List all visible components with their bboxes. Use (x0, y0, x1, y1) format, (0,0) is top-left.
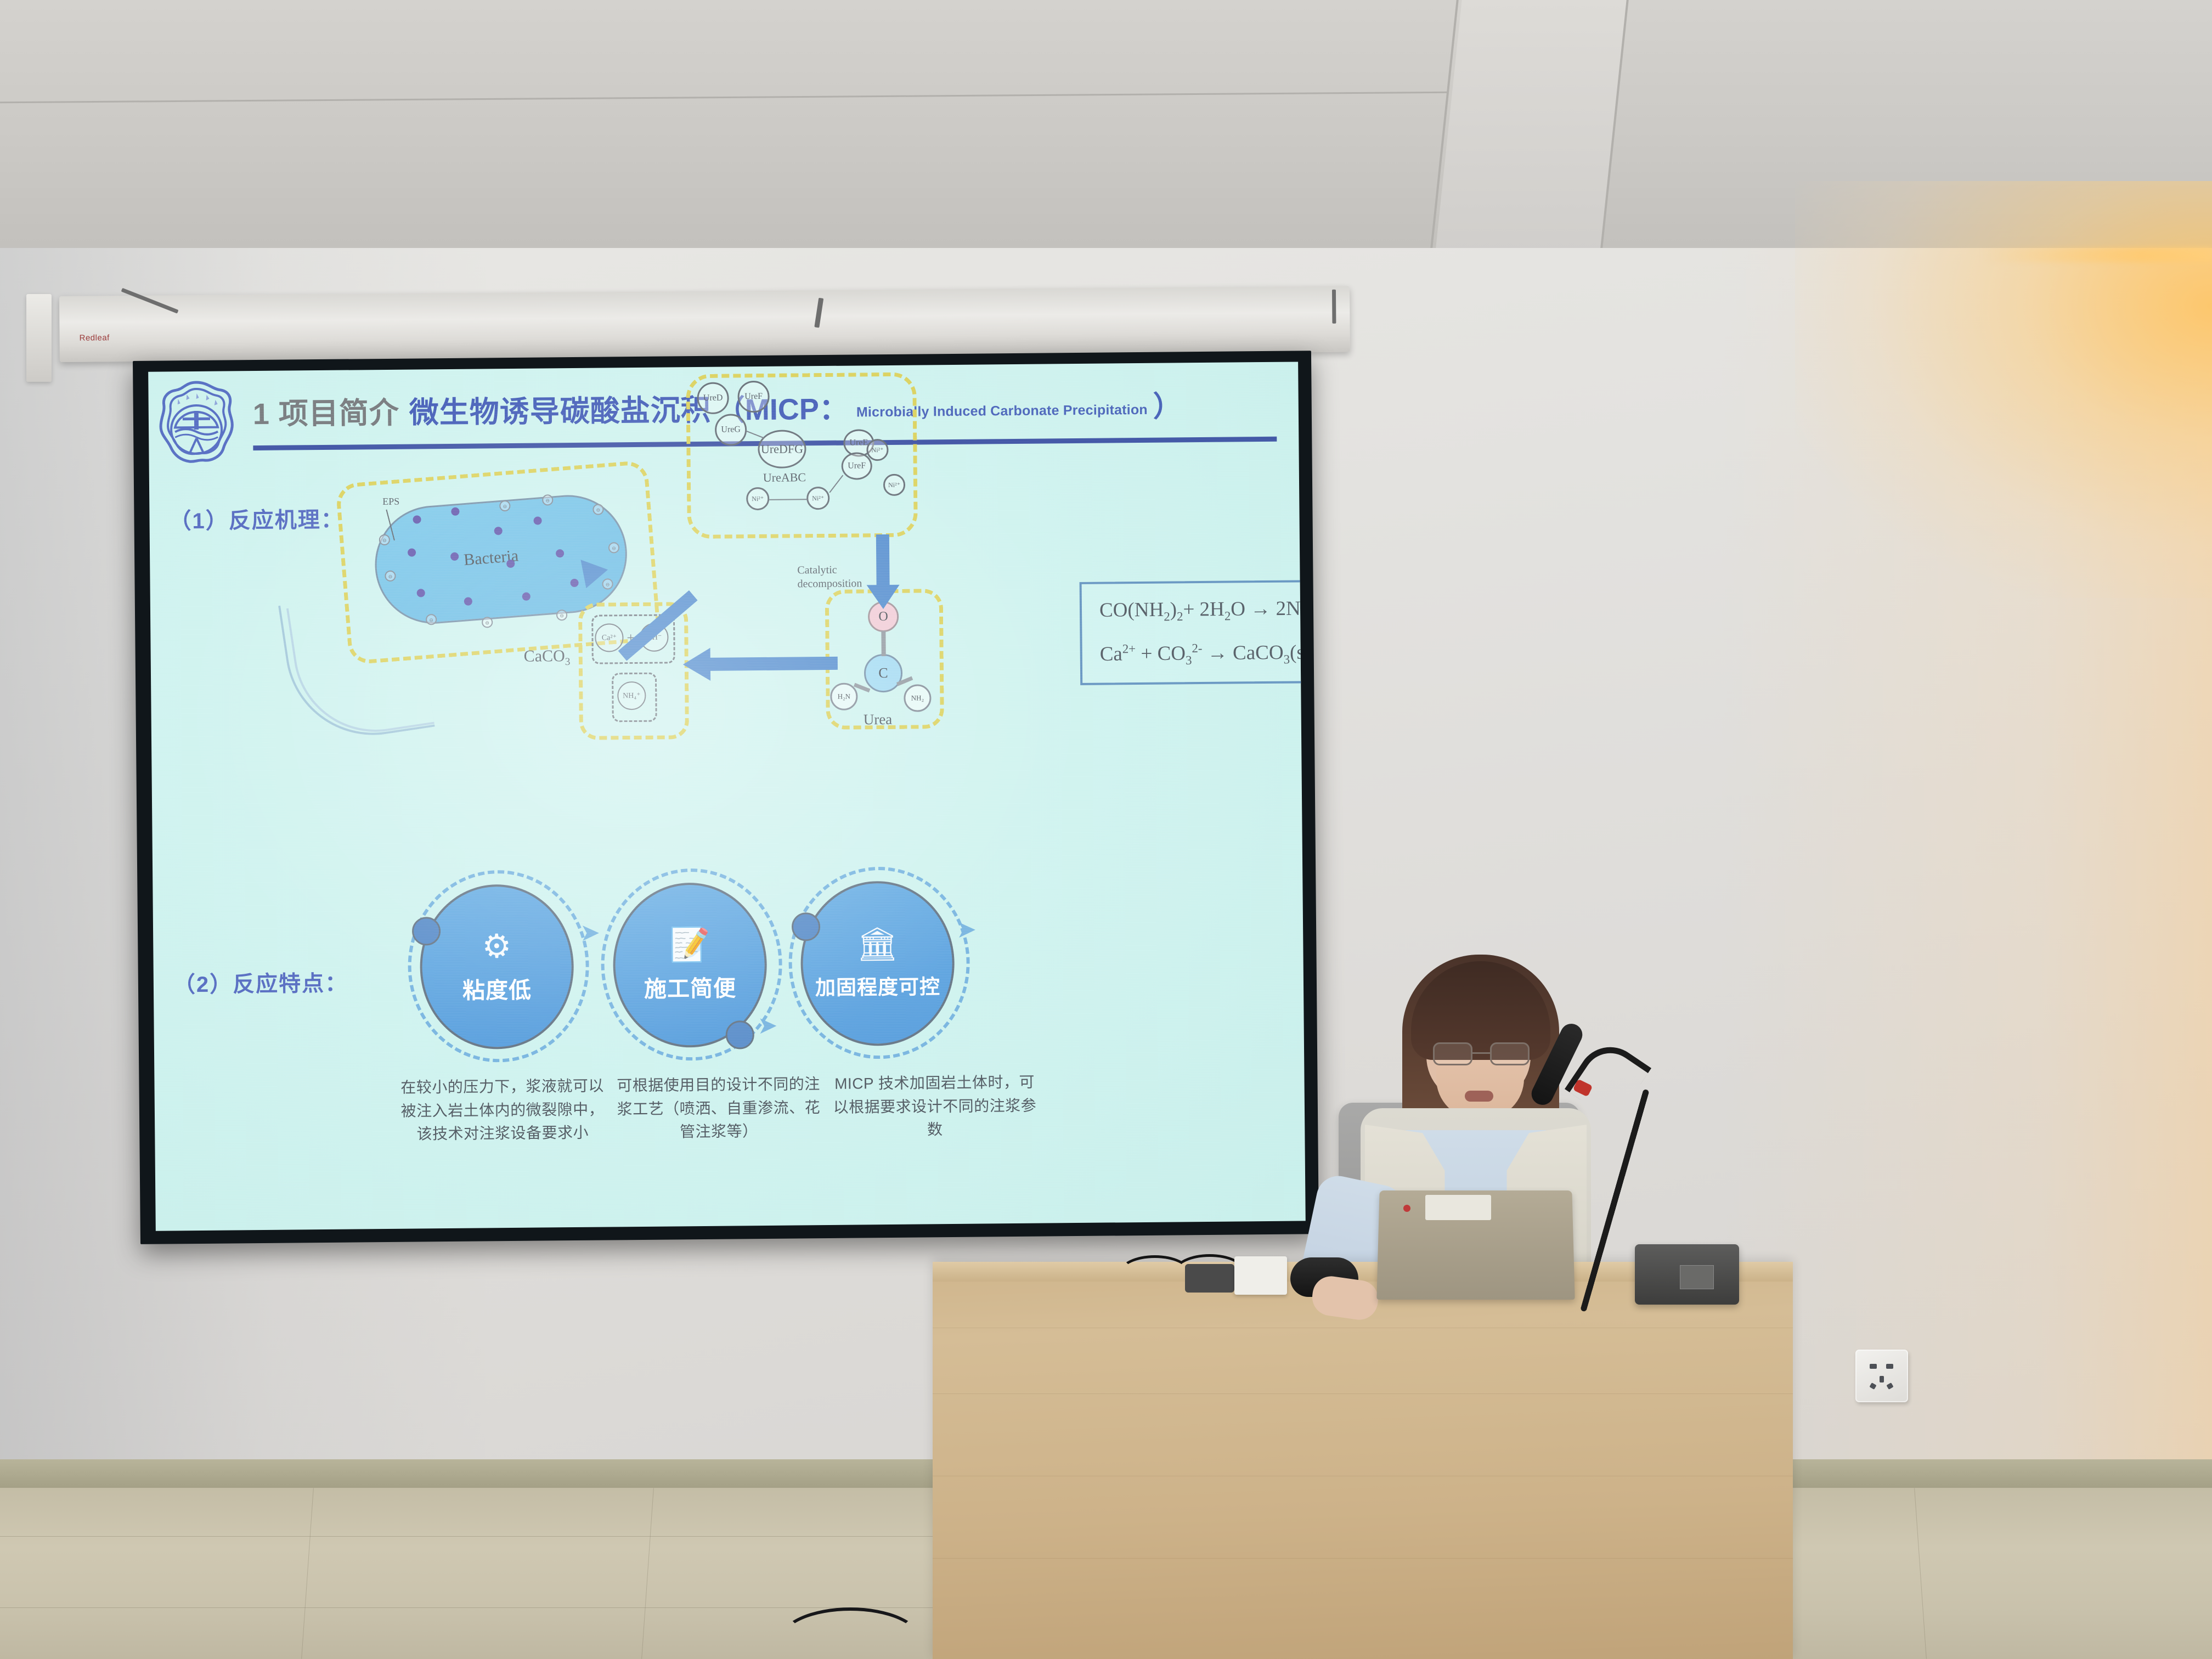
membrane-receptor-icon: ⊖ (608, 542, 619, 553)
slide-content: 1 项目简介 微生物诱导碳酸盐沉积 （ MICP： Microbially In… (148, 362, 1306, 1231)
membrane-receptor-icon: ⊖ (426, 614, 437, 625)
membrane-receptor-icon: ⊖ (482, 617, 493, 628)
arrow-head-down (867, 585, 900, 610)
screenshot-root: Redleaf (0, 0, 2212, 1659)
cell-dot (494, 527, 503, 535)
title-topic: 微生物诱导碳酸盐沉积 (409, 386, 711, 432)
urease-node-ureg: UreG (715, 414, 747, 446)
presenter-mouth (1465, 1091, 1493, 1102)
urea-atom-nh2: NH₂ (904, 684, 931, 712)
urease-node-ni-2: Ni²⁺ (883, 474, 905, 496)
laptop-logo-dot-icon (1403, 1205, 1410, 1212)
case-cable-clip-2 (814, 298, 823, 328)
feature-flow-arrow-1: ➤ (580, 921, 600, 945)
projector-screen-case: Redleaf (59, 286, 1350, 362)
feature-flow-arrow-2: ➤ (757, 1014, 777, 1038)
podium-grain (933, 1328, 1793, 1328)
urease-node-ni-3: Ni²⁺ (746, 487, 769, 510)
cell-dot (450, 552, 459, 561)
membrane-receptor-icon: ⊖ (602, 578, 613, 589)
cell-dot (570, 579, 578, 587)
urease-node-uref-2: UreF (842, 452, 872, 479)
outlet-slot-ground (1880, 1376, 1884, 1383)
arrow-urea-to-ions (708, 657, 838, 671)
microphone-base[interactable] (1635, 1244, 1739, 1305)
eps-label: EPS (382, 496, 399, 507)
membrane-receptor-icon: ⊖ (592, 504, 603, 515)
cove-light-strip (1982, 248, 2212, 262)
cell-dot (556, 549, 564, 557)
urease-node-ni-1: Ni²⁺ (866, 439, 888, 461)
membrane-receptor-icon: ⊖ (542, 494, 553, 505)
features-diagram: ⚙ 粘度低 📝 施工简便 🏛 加固程度可控 ➤ ➤ (419, 880, 1025, 1215)
urease-node-ured: UreD (697, 382, 729, 415)
outlet-slot-l2 (1869, 1383, 1876, 1390)
podium-grain (933, 1393, 1793, 1394)
presenter-glasses-icon (1433, 1042, 1530, 1066)
ion-ca: Ca²⁺ (595, 623, 623, 652)
membrane-receptor-icon: ⊖ (499, 500, 510, 511)
outlet-slot-right (1886, 1364, 1893, 1369)
feature-descriptions: 在较小的压力下，浆液就可以被注入岩土体内的微裂隙中，该技术对注浆设备要求小 可根… (400, 1070, 1048, 1146)
title-section-number: 1 项目简介 (252, 388, 399, 433)
podium-grain (933, 1476, 1793, 1476)
feature-label-1: 粘度低 (462, 978, 532, 1004)
cell-dot (534, 517, 542, 525)
catalytic-line-2: decomposition (797, 577, 862, 591)
catalytic-line-1: Catalytic (797, 563, 862, 577)
glasses-lens-right (1490, 1042, 1530, 1065)
cell-dot (451, 507, 459, 516)
floor-plank-line-2 (0, 1607, 933, 1608)
feature-knob-2 (726, 1020, 754, 1049)
catalytic-decomposition-label: Catalytic decomposition (797, 563, 862, 591)
cell-dot (408, 549, 416, 557)
ceiling (0, 0, 2212, 258)
wooden-podium (933, 1262, 1793, 1659)
mechanism-diagram: Bacteria EPS ⊖ ⊖ (248, 461, 1057, 737)
screen-mount-bracket (26, 294, 52, 382)
membrane-receptor-icon: ⊖ (379, 534, 390, 545)
glasses-bridge (1472, 1052, 1490, 1054)
cell-dot (464, 597, 472, 606)
feature-description-1: 在较小的压力下，浆液就可以被注入岩土体内的微裂隙中，该技术对注浆设备要求小 (400, 1075, 605, 1147)
title-paren-close: ） (1153, 383, 1182, 424)
cell-dot (413, 515, 421, 523)
viscosity-icon: ⚙ (482, 930, 511, 963)
urease-node-uref-1: UreF (737, 381, 770, 413)
urease-node-ni-4: Ni²⁺ (806, 487, 830, 510)
feature-knob-1 (412, 917, 441, 945)
cell-dot (522, 592, 531, 601)
screen-brand-label: Redleaf (80, 333, 110, 342)
feature-description-2: 可根据使用目的设计不同的注浆工艺（喷洒、自重渗流、花管注浆等） (616, 1073, 821, 1144)
feature-flow-arrow-3: ➤ (956, 918, 977, 942)
cell-dot (506, 560, 515, 568)
desk-cable-plug (1185, 1264, 1234, 1293)
membrane-receptor-icon: ⊖ (556, 610, 567, 620)
projected-slide: 1 项目简介 微生物诱导碳酸盐沉积 （ MICP： Microbially In… (148, 362, 1306, 1231)
reinforcement-icon: 🏛 (856, 928, 899, 961)
projection-screen: 1 项目简介 微生物诱导碳酸盐沉积 （ MICP： Microbially In… (133, 351, 1319, 1244)
podium-grain (933, 1558, 1793, 1559)
desk-cable-adapter (1234, 1256, 1287, 1295)
feature-description-3: MICP 技术加固岩土体时，可以根据要求设计不同的注浆参数 (832, 1071, 1037, 1143)
equation-1: CO(NH2)2+ 2H2O → 2NH4+ + CO32- (1099, 596, 1306, 624)
feature-label-3: 加固程度可控 (815, 975, 940, 999)
feature-label-2: 施工简便 (644, 976, 736, 1002)
arrow-urease-to-urea (876, 534, 890, 587)
membrane-receptor-icon: ⊖ (385, 571, 396, 582)
feature-circle-3[interactable]: 🏛 加固程度可控 (800, 881, 955, 1046)
equation-box: CO(NH2)2+ 2H2O → 2NH4+ + CO32- Ca2+ + CO… (1080, 578, 1306, 685)
ion-nh4: NH₄⁺ (617, 681, 646, 710)
construction-icon: 📝 (669, 928, 710, 962)
outlet-slot-left (1870, 1364, 1877, 1369)
urea-label: Urea (864, 711, 893, 728)
floor-plank-line-1 (0, 1536, 933, 1537)
university-emblem-icon (155, 379, 238, 466)
feature-circle-1[interactable]: ⚙ 粘度低 (419, 884, 574, 1049)
cell-dot (417, 589, 425, 597)
caco3-label: CaCO3 (524, 647, 571, 669)
wall-power-outlet[interactable] (1855, 1350, 1908, 1402)
equation-2: Ca2+ + CO32- → CaCO3(s) (1100, 640, 1306, 668)
section-label-features: （2）反应特点： (173, 966, 348, 999)
urea-bond-co (881, 631, 885, 656)
outlet-slot-r2 (1886, 1383, 1893, 1390)
case-cable-clip-3 (1332, 290, 1336, 324)
urea-atom-c: C (864, 654, 903, 693)
ceiling-panel-a (1435, 0, 1626, 258)
laptop-sticker (1425, 1195, 1491, 1220)
urea-atom-h2n: H₂N (830, 682, 857, 710)
arrow-head-left (683, 648, 711, 681)
glasses-lens-left (1433, 1042, 1472, 1065)
microphone-base-plate (1680, 1265, 1714, 1289)
feature-knob-3 (792, 912, 820, 941)
